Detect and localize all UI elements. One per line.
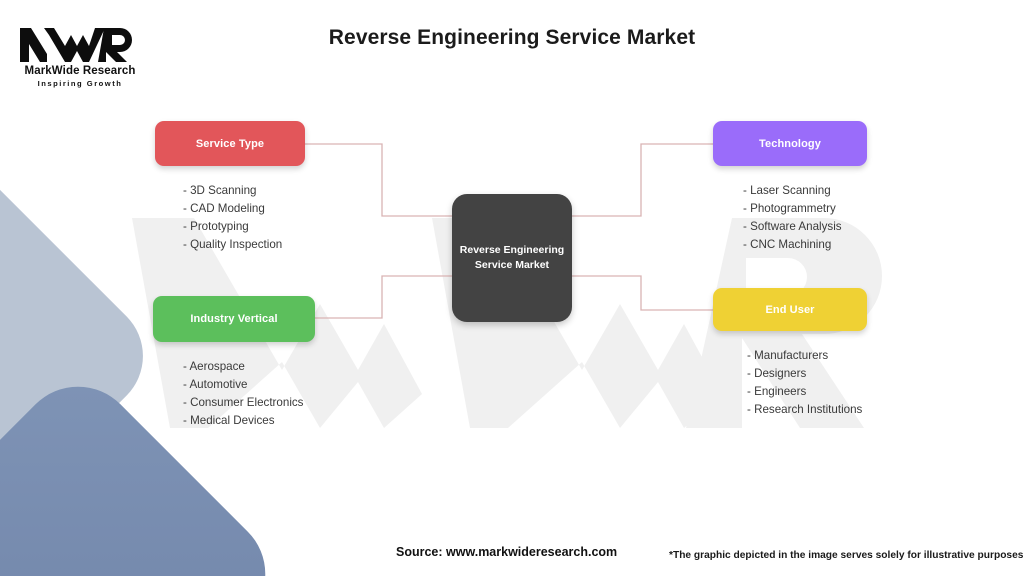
list-item: - Medical Devices <box>183 412 315 430</box>
footer-source: Source: www.markwideresearch.com <box>396 545 617 559</box>
branch-label-service-type: Service Type <box>196 138 264 150</box>
branch-items-service-type: - 3D Scanning - CAD Modeling - Prototypi… <box>155 182 305 254</box>
branch-items-end-user: - Manufacturers - Designers - Engineers … <box>713 347 867 419</box>
center-node: Reverse Engineering Service Market <box>452 194 572 322</box>
list-item: - CNC Machining <box>743 236 867 254</box>
branch-items-technology: - Laser Scanning - Photogrammetry - Soft… <box>713 182 867 254</box>
connector-industry-vertical <box>315 276 452 318</box>
list-item: - CAD Modeling <box>183 200 305 218</box>
branch-label-industry-vertical: Industry Vertical <box>190 313 277 325</box>
branch-header-service-type[interactable]: Service Type <box>155 121 305 166</box>
list-item: - Engineers <box>747 383 867 401</box>
branch-industry-vertical: Industry Vertical - Aerospace - Automoti… <box>153 296 315 430</box>
list-item: - Prototyping <box>183 218 305 236</box>
page-title: Reverse Engineering Service Market <box>0 26 1024 50</box>
branch-header-technology[interactable]: Technology <box>713 121 867 166</box>
connector-end-user <box>572 276 713 310</box>
logo-tagline: Inspiring Growth <box>20 79 140 88</box>
list-item: - Research Institutions <box>747 401 867 419</box>
branch-label-technology: Technology <box>759 138 821 150</box>
center-node-line-1: Reverse Engineering <box>460 244 564 256</box>
decorative-shape-light <box>0 144 166 568</box>
list-item: - Designers <box>747 365 867 383</box>
infographic-slide: MarkWide Research Inspiring Growth Rever… <box>0 0 1024 576</box>
list-item: - Manufacturers <box>747 347 867 365</box>
list-item: - Consumer Electronics <box>183 394 315 412</box>
list-item: - Laser Scanning <box>743 182 867 200</box>
branch-service-type: Service Type - 3D Scanning - CAD Modelin… <box>155 121 305 254</box>
connector-service-type <box>305 144 452 216</box>
connector-technology <box>572 144 713 216</box>
list-item: - Aerospace <box>183 358 315 376</box>
branch-end-user: End User - Manufacturers - Designers - E… <box>713 288 867 419</box>
list-item: - Automotive <box>183 376 315 394</box>
center-node-line-2: Service Market <box>475 259 549 271</box>
center-node-label: Reverse Engineering Service Market <box>454 243 570 273</box>
logo-company-name: MarkWide Research <box>20 65 140 77</box>
branch-label-end-user: End User <box>765 304 814 316</box>
branch-header-end-user[interactable]: End User <box>713 288 867 331</box>
list-item: - 3D Scanning <box>183 182 305 200</box>
list-item: - Quality Inspection <box>183 236 305 254</box>
branch-technology: Technology - Laser Scanning - Photogramm… <box>713 121 867 254</box>
list-item: - Software Analysis <box>743 218 867 236</box>
branch-items-industry-vertical: - Aerospace - Automotive - Consumer Elec… <box>153 358 315 430</box>
list-item: - Photogrammetry <box>743 200 867 218</box>
branch-header-industry-vertical[interactable]: Industry Vertical <box>153 296 315 342</box>
footer-disclaimer: *The graphic depicted in the image serve… <box>669 550 1023 561</box>
